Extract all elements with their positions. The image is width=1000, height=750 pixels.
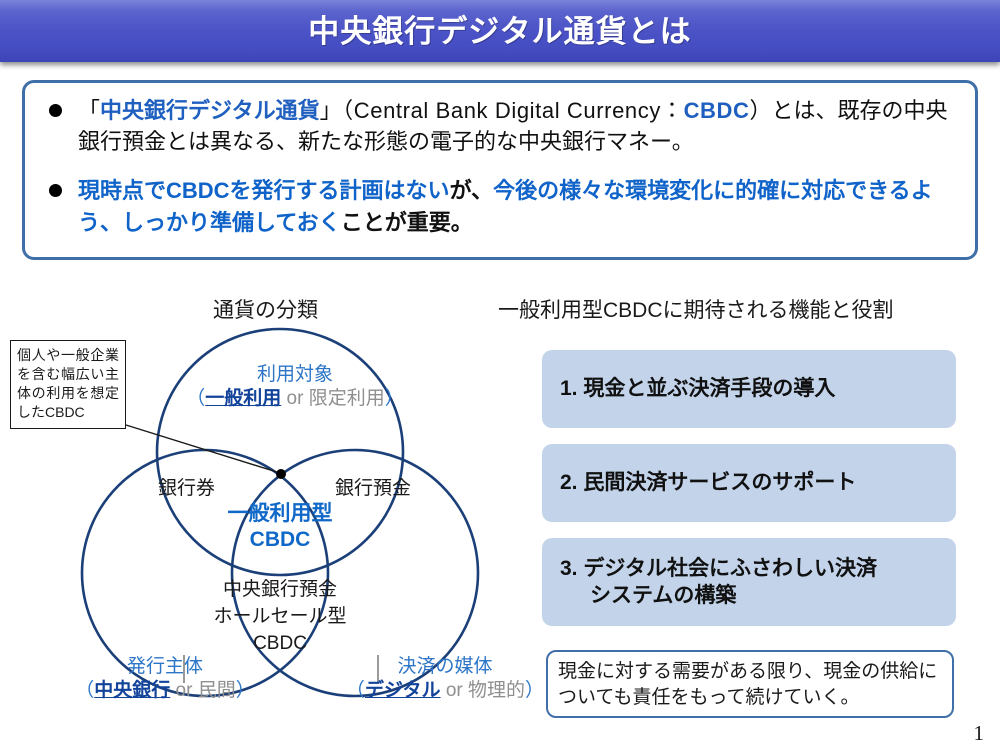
venn-wholesale-line-2: ホールセール型 xyxy=(190,604,370,631)
paren-close: ） xyxy=(236,680,255,701)
currency-classification-venn: 個人や一般企業を含む幅広い主体の利用を想定したCBDC 利用対象 （一般利用 o… xyxy=(0,325,545,745)
callout-leader-line xyxy=(126,425,280,473)
option-conjunction: or xyxy=(176,680,193,701)
bullet-2-seg-0: 現時点でCBDCを発行する計画はない xyxy=(78,178,450,203)
venn-region-banknote: 銀行券 xyxy=(158,473,215,500)
role-1-label: 現金と並ぶ決済手段の導入 xyxy=(583,377,835,400)
bullet-2-seg-1: が、 xyxy=(450,178,494,203)
page-title: 中央銀行デジタル通貨とは xyxy=(308,16,691,47)
option-on: デジタル xyxy=(365,680,441,701)
venn-region-general-purpose-cbdc: 一般利用型 CBDC xyxy=(205,501,355,554)
bullet-2-seg-3: ことが重要。 xyxy=(341,210,473,235)
bullet-1-seg-3: CBDC xyxy=(684,98,750,123)
paren-open: （ xyxy=(346,680,365,701)
role-3-label: デジタル社会にふさわしい決済 xyxy=(583,557,877,580)
venn-wholesale-line-3: CBDC xyxy=(190,631,370,658)
option-on: 中央銀行 xyxy=(94,680,170,701)
venn-label-use-target-title: 利用対象 xyxy=(170,363,420,387)
paren-open: （ xyxy=(75,680,94,701)
bullet-item: 現時点でCBDCを発行する計画はないが、今後の様々な環境変化に的確に対応できるよ… xyxy=(39,175,961,237)
option-off: 物理的 xyxy=(468,680,525,701)
role-3-text: 3. デジタル社会にふさわしい決済システムの構築 xyxy=(560,555,877,610)
option-on: 一般利用 xyxy=(205,388,281,409)
venn-label-issuer-options: （中央銀行 or 民間） xyxy=(55,679,275,703)
role-box-3: 3. デジタル社会にふさわしい決済システムの構築 xyxy=(542,538,956,626)
venn-label-medium: 決済の媒体 （デジタル or 物理的） xyxy=(330,655,560,703)
venn-wholesale-line-1: 中央銀行預金 xyxy=(190,577,370,604)
role-box-1: 1. 現金と並ぶ決済手段の導入 xyxy=(542,350,956,428)
venn-center-line-1: 一般利用型 xyxy=(205,501,355,527)
venn-region-wholesale: 中央銀行預金 ホールセール型 CBDC xyxy=(190,577,370,658)
venn-label-medium-options: （デジタル or 物理的） xyxy=(330,679,560,703)
role-2-number: 2. xyxy=(560,471,578,494)
role-3-number: 3. xyxy=(560,557,578,580)
roles-section-heading: 一般利用型CBDCに期待される機能と役割 xyxy=(498,294,894,324)
slide-title-banner: 中央銀行デジタル通貨とは xyxy=(0,0,1000,62)
bullet-2-text: 現時点でCBDCを発行する計画はないが、今後の様々な環境変化に的確に対応できるよ… xyxy=(78,175,961,237)
venn-label-issuer: 発行主体 （中央銀行 or 民間） xyxy=(55,655,275,703)
bullet-dot-icon xyxy=(49,184,62,197)
bullet-item: 「中央銀行デジタル通貨」（Central Bank Digital Curren… xyxy=(39,95,961,157)
paren-close: ） xyxy=(385,388,404,409)
venn-label-use-target: 利用対象 （一般利用 or 限定利用） xyxy=(170,363,420,411)
callout-box: 個人や一般企業を含む幅広い主体の利用を想定したCBDC xyxy=(10,340,126,429)
bullet-1-text: 「中央銀行デジタル通貨」（Central Bank Digital Curren… xyxy=(78,95,961,157)
bullet-1-seg-0: 「 xyxy=(78,98,100,123)
venn-label-medium-title: 決済の媒体 xyxy=(330,655,560,679)
option-conjunction: or xyxy=(287,388,304,409)
slide-root: 中央銀行デジタル通貨とは 「中央銀行デジタル通貨」（Central Bank D… xyxy=(0,0,1000,750)
summary-bullet-box: 「中央銀行デジタル通貨」（Central Bank Digital Curren… xyxy=(22,80,978,260)
option-off: 限定利用 xyxy=(309,388,385,409)
venn-region-bank-deposit: 銀行預金 xyxy=(335,473,411,500)
page-number: 1 xyxy=(974,721,985,746)
paren-close: ） xyxy=(525,680,544,701)
venn-label-use-target-options: （一般利用 or 限定利用） xyxy=(170,387,420,411)
paren-open: （ xyxy=(186,388,205,409)
bullet-1-seg-1: 中央銀行デジタル通貨 xyxy=(100,98,320,123)
role-3-label-2: システムの構築 xyxy=(560,582,736,609)
venn-section-heading: 通貨の分類 xyxy=(213,294,318,324)
role-2-label: 民間決済サービスのサポート xyxy=(583,471,856,494)
option-conjunction: or xyxy=(446,680,463,701)
role-1-text: 1. 現金と並ぶ決済手段の導入 xyxy=(560,375,835,402)
bullet-dot-icon xyxy=(49,104,62,117)
venn-label-issuer-title: 発行主体 xyxy=(55,655,275,679)
bullet-1-seg-2: 」（Central Bank Digital Currency： xyxy=(320,98,684,123)
callout-target-dot xyxy=(276,469,286,479)
cash-supply-note-box: 現金に対する需要がある限り、現金の供給についても責任をもって続けていく。 xyxy=(546,650,954,718)
role-box-2: 2. 民間決済サービスのサポート xyxy=(542,444,956,522)
role-1-number: 1. xyxy=(560,377,578,400)
option-off: 民間 xyxy=(198,680,236,701)
venn-center-line-2: CBDC xyxy=(205,527,355,553)
role-2-text: 2. 民間決済サービスのサポート xyxy=(560,469,856,496)
